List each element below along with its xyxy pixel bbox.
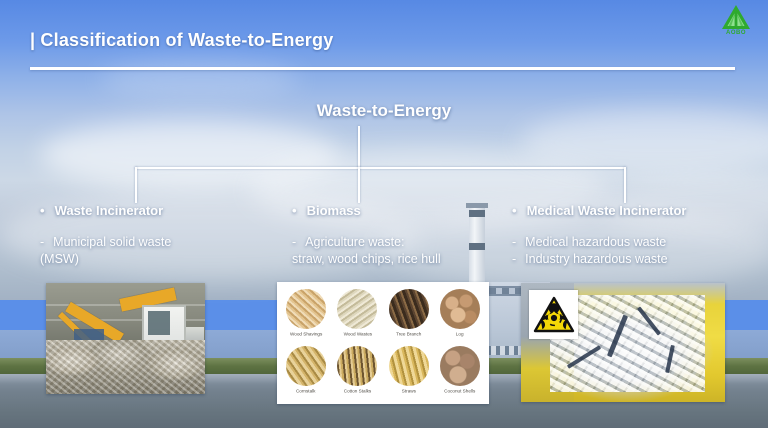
municipal-waste-pile <box>46 340 205 394</box>
dash-marker: - <box>40 234 44 251</box>
biomass-sample: Tree Branch <box>384 287 434 343</box>
branch-heading-label: Waste Incinerator <box>55 203 164 218</box>
connector-stem <box>358 126 360 168</box>
tree-branch-icon <box>389 289 429 329</box>
biomass-sample-label: Coconut Shells <box>444 388 475 395</box>
cornstalk-icon <box>286 346 326 386</box>
list-item-text: straw, wood chips, rice hull <box>292 251 510 268</box>
biomass-sample-label: Straws <box>402 388 416 395</box>
branch-biomass: • Biomass - Agriculture waste: straw, wo… <box>292 203 510 268</box>
excavator-cab-window <box>148 311 170 335</box>
medical-waste-photo <box>521 283 725 402</box>
page-title: | Classification of Waste-to-Energy <box>30 30 333 51</box>
wood-shavings-icon <box>286 289 326 329</box>
list-item-text: Industry hazardous waste <box>525 251 764 268</box>
list-item: - Industry hazardous waste <box>512 251 764 268</box>
log-icon <box>440 289 480 329</box>
list-item-text: Municipal solid waste <box>53 234 290 251</box>
list-item: - Municipal solid waste <box>40 234 290 251</box>
list-item-text: Agriculture waste: <box>305 234 510 251</box>
biomass-sample-label: Tree Branch <box>396 331 421 338</box>
waste-incinerator-photo <box>46 283 205 394</box>
branch-heading: • Medical Waste Incinerator <box>512 203 764 218</box>
root-node-label: Waste-to-Energy <box>0 101 768 121</box>
branch-body: - Agriculture waste: straw, wood chips, … <box>292 234 510 268</box>
straws-icon <box>389 346 429 386</box>
wood-wastes-icon <box>337 289 377 329</box>
biomass-sample: Coconut Shells <box>435 344 485 400</box>
triangle-logo-icon <box>721 4 751 30</box>
branch-heading: • Biomass <box>292 203 510 218</box>
list-item: straw, wood chips, rice hull <box>292 251 510 268</box>
biomass-sample-label: Log <box>456 331 464 338</box>
connector-horizontal <box>135 167 626 169</box>
biomass-sample-label: Cornstalk <box>296 388 316 395</box>
cloud <box>100 60 300 100</box>
connector-drop-right <box>624 167 626 203</box>
branch-medical-waste-incinerator: • Medical Waste Incinerator - Medical ha… <box>512 203 764 268</box>
aobo-logo: AOBO <box>714 4 758 40</box>
bullet-icon: • <box>292 204 297 217</box>
list-item-text: Medical hazardous waste <box>525 234 764 251</box>
biomass-sample: Log <box>435 287 485 343</box>
list-item: - Agriculture waste: <box>292 234 510 251</box>
branch-heading-label: Biomass <box>307 203 361 218</box>
branch-body: - Municipal solid waste (MSW) <box>40 234 290 268</box>
biomass-sample: Straws <box>384 344 434 400</box>
waste-texture <box>46 340 205 394</box>
bullet-icon: • <box>512 204 517 217</box>
connector-drop-left <box>135 167 137 203</box>
branch-waste-incinerator: • Waste Incinerator - Municipal solid wa… <box>40 203 290 268</box>
list-item-text: (MSW) <box>40 251 290 268</box>
dash-marker: - <box>512 234 516 251</box>
biomass-sample-label: Wood Shavings <box>290 331 322 338</box>
cotton-stalks-icon <box>337 346 377 386</box>
branch-heading-label: Medical Waste Incinerator <box>527 203 687 218</box>
biomass-sample-grid: Wood Shavings Wood Wastes Tree Branch Lo… <box>277 282 489 404</box>
connector-drop-center <box>358 167 360 203</box>
biomass-sample-label: Wood Wastes <box>343 331 372 338</box>
biohazard-sign <box>529 290 578 339</box>
dash-marker: - <box>292 234 296 251</box>
logo-wordmark: AOBO <box>714 30 758 37</box>
biomass-sample: Cornstalk <box>281 344 331 400</box>
biomass-photo: Wood Shavings Wood Wastes Tree Branch Lo… <box>277 282 489 404</box>
branch-heading: • Waste Incinerator <box>40 203 290 218</box>
biomass-sample: Wood Wastes <box>332 287 382 343</box>
branch-body: - Medical hazardous waste - Industry haz… <box>512 234 764 268</box>
list-item: - Medical hazardous waste <box>512 234 764 251</box>
list-item: (MSW) <box>40 251 290 268</box>
coconut-shells-icon <box>440 346 480 386</box>
biomass-sample-label: Cotton Stalks <box>344 388 372 395</box>
biohazard-icon <box>533 296 575 334</box>
title-divider <box>30 67 735 70</box>
biomass-sample: Cotton Stalks <box>332 344 382 400</box>
slide-canvas: | Classification of Waste-to-Energy AOBO… <box>0 0 768 428</box>
dash-marker: - <box>512 251 516 268</box>
bullet-icon: • <box>40 204 45 217</box>
biomass-sample: Wood Shavings <box>281 287 331 343</box>
